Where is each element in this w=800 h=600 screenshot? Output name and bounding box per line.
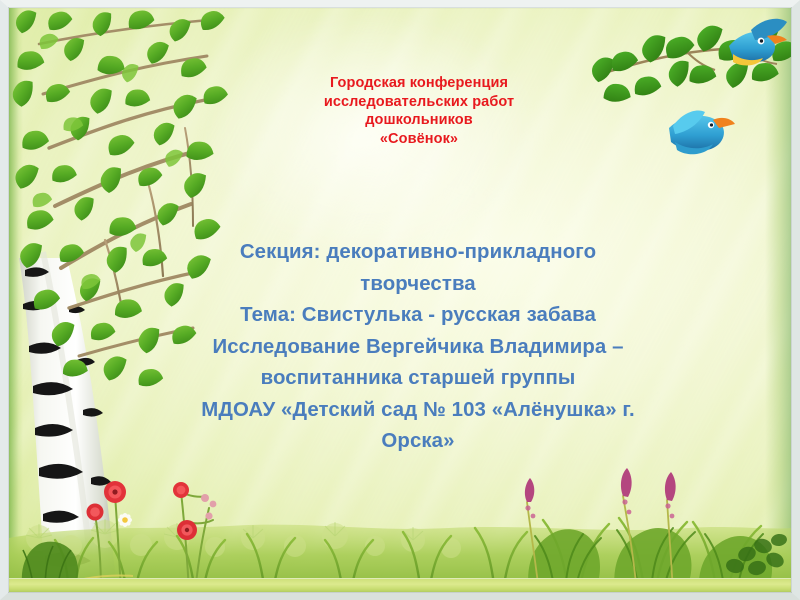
conference-title: Городская конференция исследовательских … — [291, 74, 547, 148]
conference-title-line-2: исследовательских работ — [291, 93, 547, 112]
details-line-6: МДОАУ «Детский сад № 103 «Алёнушка» г. — [173, 395, 663, 427]
blue-bird-flying-icon — [669, 111, 735, 155]
meadow-bottom-strip — [9, 578, 791, 592]
white-daisy — [118, 513, 133, 528]
leafy-branch-illustration — [591, 8, 791, 178]
conference-title-line-1: Городская конференция — [291, 74, 547, 93]
conference-title-line-3: дошкольников — [291, 111, 547, 130]
presentation-slide: Городская конференция исследовательских … — [0, 0, 800, 600]
details-line-5: воспитанника старшей группы — [173, 363, 663, 395]
conference-title-line-4: «Совёнок» — [291, 130, 547, 149]
details-line-2: творчества — [173, 269, 663, 301]
details-line-1: Секция: декоративно-прикладного — [173, 237, 663, 269]
slide-canvas: Городская конференция исследовательских … — [9, 8, 791, 592]
details-line-3: Тема: Свистулька - русская забава — [173, 300, 663, 332]
details-line-7: Орска» — [173, 426, 663, 458]
meadow-illustration — [9, 442, 791, 592]
details-line-4: Исследование Вергейчика Владимира – — [173, 332, 663, 364]
presentation-details: Секция: декоративно-прикладного творчест… — [173, 237, 663, 458]
